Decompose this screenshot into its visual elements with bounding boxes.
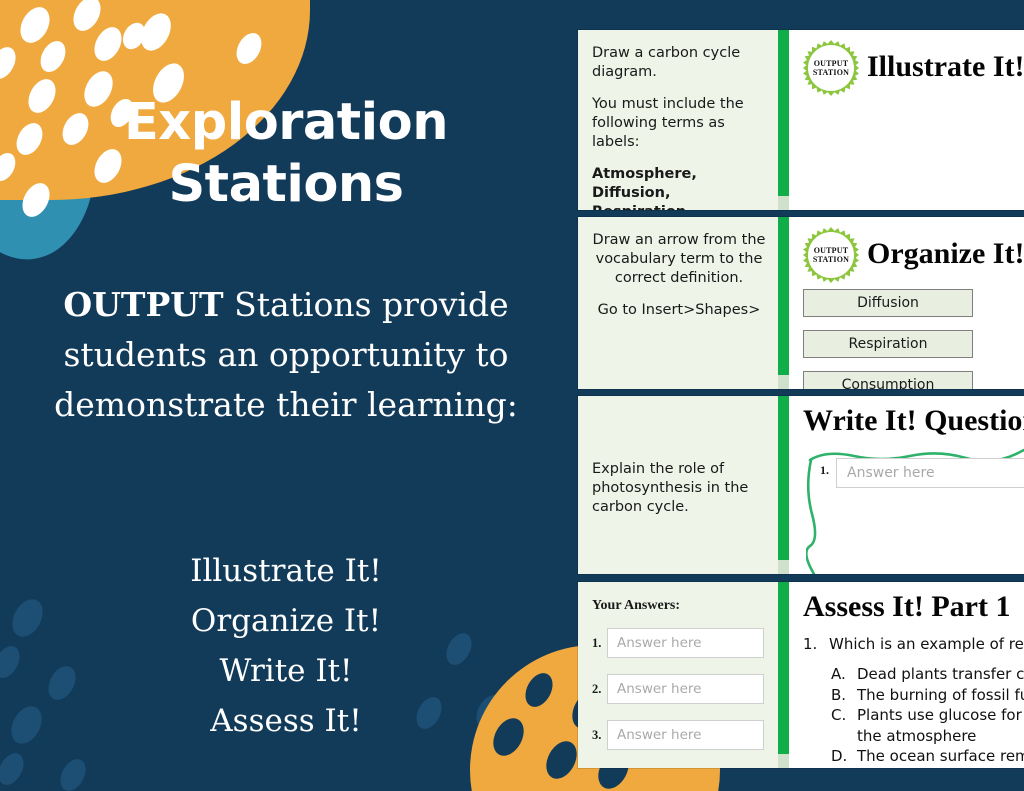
instruction-terms: Atmosphere, Diffusion, Respiration, [592,165,766,210]
choice-text: Dead plants transfer carb [857,664,1024,685]
station-list-item: Write It! [16,646,556,696]
output-station-badge-icon: OUTPUT STATION [803,227,859,283]
slide-canvas: Exploration Stations OUTPUT Stations pro… [0,0,1024,791]
badge-line-1: OUTPUT [814,246,849,256]
answer-number: 3. [592,726,607,745]
answer-choice[interactable]: A. Dead plants transfer carb [831,664,1024,685]
answer-input[interactable]: Answer here [836,458,1024,488]
answer-row: 2. Answer here [592,674,764,704]
instruction-text: Go to Insert>Shapes> [592,301,766,320]
station-list-item: Assess It! [16,696,556,746]
slide-preview: Write It! Question 1. Answer here [789,396,1024,574]
panel-write-it[interactable]: Explain the role of photosynthesis in th… [578,396,1024,574]
panel-heading: Illustrate It! [867,50,1024,84]
handdrawn-answer-frame: 1. Answer here [806,446,1024,574]
slide-preview: OUTPUT STATION Organize It! Diffusion Re… [789,217,1024,389]
choice-letter: D. [831,746,857,767]
answer-number: 1. [592,634,607,653]
intro-paragraph: OUTPUT Stations provide students an oppo… [16,280,556,430]
answer-input[interactable]: Answer here [607,628,764,658]
question-number: 1. [803,634,829,654]
instruction-pane: Explain the role of photosynthesis in th… [578,396,778,574]
answer-number: 1. [820,458,829,478]
station-list: Illustrate It! Organize It! Write It! As… [16,546,556,746]
answer-choice-list: A. Dead plants transfer carb B. The burn… [831,664,1024,767]
instruction-text: Draw a carbon cycle diagram. [592,44,766,82]
green-divider-bar [778,30,789,210]
station-list-item: Organize It! [16,596,556,646]
green-divider-bar [778,582,789,768]
title-line-1: Exploration [0,92,572,154]
choice-letter: B. [831,685,857,706]
question-text: Which is an example of res [829,635,1024,653]
vocabulary-chip[interactable]: Respiration [803,330,973,358]
output-station-badge-icon: OUTPUT STATION [803,40,859,96]
page-title: Exploration Stations [0,92,572,216]
badge-inner: OUTPUT STATION [808,45,854,91]
panel-heading: Write It! Question [803,404,1024,438]
answer-row: 3. Answer here [592,720,764,750]
instruction-text: Explain the role of photosynthesis in th… [592,460,766,517]
answer-choice[interactable]: D. The ocean surface remov [831,746,1024,767]
left-content-column: Exploration Stations OUTPUT Stations pro… [0,0,572,791]
instruction-text: You must include the following terms as … [592,95,766,152]
panel-heading: Organize It! [867,237,1024,271]
vocabulary-chip[interactable]: Diffusion [803,289,973,317]
vocabulary-chip[interactable]: Consumption [803,371,973,389]
instruction-pane: Draw a carbon cycle diagram. You must in… [578,30,778,210]
slide-thumbnail-column: Draw a carbon cycle diagram. You must in… [578,0,1024,791]
answer-line: 1. Answer here [820,458,1024,488]
title-line-2: Stations [0,154,572,216]
your-answers-label: Your Answers: [592,596,764,615]
vocabulary-term-list: Diffusion Respiration Consumption [803,289,983,389]
panel-organize-it[interactable]: Draw an arrow from the vocabulary term t… [578,217,1024,389]
answer-choice[interactable]: C. Plants use glucose for fo the atmosph… [831,705,1024,746]
instruction-pane: Draw an arrow from the vocabulary term t… [578,217,778,389]
instruction-text: Draw an arrow from the vocabulary term t… [592,231,766,288]
slide-preview: Assess It! Part 1 1.Which is an example … [789,582,1024,768]
choice-text: The burning of fossil fuel [857,685,1024,706]
badge-line-2: STATION [813,255,849,265]
answer-row: 1. Answer here [592,628,764,658]
panel-assess-it[interactable]: Your Answers: 1. Answer here 2. Answer h… [578,582,1024,768]
answer-choice[interactable]: B. The burning of fossil fuel [831,685,1024,706]
badge-inner: OUTPUT STATION [808,232,854,278]
station-list-item: Illustrate It! [16,546,556,596]
answer-number: 2. [592,680,607,699]
answer-input[interactable]: Answer here [607,720,764,750]
choice-letter: A. [831,664,857,685]
green-divider-bar [778,217,789,389]
slide-preview: OUTPUT STATION Illustrate It! [789,30,1024,210]
badge-line-1: OUTPUT [814,59,849,69]
choice-letter: C. [831,705,857,746]
panel-illustrate-it[interactable]: Draw a carbon cycle diagram. You must in… [578,30,1024,210]
choice-text: The ocean surface remov [857,746,1024,767]
answer-input[interactable]: Answer here [607,674,764,704]
panel-heading: Assess It! Part 1 [803,590,1010,624]
choice-text: Plants use glucose for fo the atmosphere [857,705,1024,746]
green-divider-bar [778,396,789,574]
intro-bold-word: OUTPUT [63,285,223,324]
question-stem: 1.Which is an example of res [803,634,1024,654]
badge-line-2: STATION [813,68,849,78]
answers-pane: Your Answers: 1. Answer here 2. Answer h… [578,582,778,768]
